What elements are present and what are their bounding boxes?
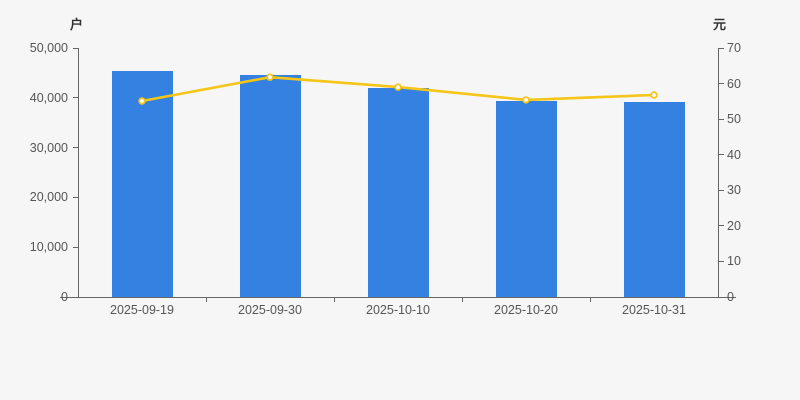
right-axis-unit-label: 元 (713, 18, 726, 31)
left-axis-tick-mark (73, 247, 78, 248)
right-axis-tick-mark (719, 190, 724, 191)
x-axis-tick-mark (334, 297, 335, 302)
left-axis-tick-mark (73, 297, 78, 298)
left-axis-tick-mark (73, 48, 78, 49)
left-axis-unit-label: 户 (70, 18, 83, 31)
line-data-point-marker[interactable]: 2025-10-31 : 56.8 元 (651, 92, 657, 98)
bar-column[interactable] (112, 71, 173, 297)
left-axis-tick-label: 30,000 (30, 142, 68, 155)
left-axis-tick-label: 0 (61, 291, 68, 304)
x-axis-category-label: 2025-10-10 (366, 304, 430, 317)
bar-column[interactable] (240, 75, 301, 297)
x-axis-tick-mark (462, 297, 463, 302)
left-axis-tick-label: 10,000 (30, 241, 68, 254)
right-axis-tick-label: 60 (727, 78, 741, 91)
bar-column[interactable] (624, 102, 685, 297)
left-axis-tick-label: 20,000 (30, 191, 68, 204)
left-axis-tick-mark (73, 147, 78, 148)
chart-container: 户 元 010,00020,00030,00040,00050,000 0102… (0, 0, 800, 400)
right-axis-tick-label: 70 (727, 42, 741, 55)
right-axis-tick-label: 50 (727, 113, 741, 126)
right-axis-tick-label: 10 (727, 255, 741, 268)
left-axis-tick-mark (73, 197, 78, 198)
right-axis-tick-mark (719, 119, 724, 120)
left-axis-tick-mark (73, 97, 78, 98)
left-axis-line (78, 48, 79, 298)
left-axis-tick-label: 50,000 (30, 42, 68, 55)
right-axis-tick-mark (719, 154, 724, 155)
x-axis-category-label: 2025-10-20 (494, 304, 558, 317)
bar-column[interactable] (496, 101, 557, 297)
x-axis-tick-mark (206, 297, 207, 302)
bar-column[interactable] (368, 88, 429, 297)
x-axis-category-label: 2025-10-31 (622, 304, 686, 317)
x-axis-tick-mark (590, 297, 591, 302)
right-axis-tick-mark (719, 83, 724, 84)
right-axis-tick-label: 20 (727, 220, 741, 233)
x-axis-category-label: 2025-09-30 (238, 304, 302, 317)
x-axis-line (60, 297, 736, 298)
right-axis-tick-mark (719, 225, 724, 226)
left-axis-tick-label: 40,000 (30, 92, 68, 105)
x-axis-category-label: 2025-09-19 (110, 304, 174, 317)
right-axis-tick-mark (719, 48, 724, 49)
right-axis-tick-label: 40 (727, 149, 741, 162)
right-axis-tick-label: 0 (727, 291, 734, 304)
right-axis-tick-mark (719, 297, 724, 298)
right-axis-tick-mark (719, 261, 724, 262)
right-axis-tick-label: 30 (727, 184, 741, 197)
